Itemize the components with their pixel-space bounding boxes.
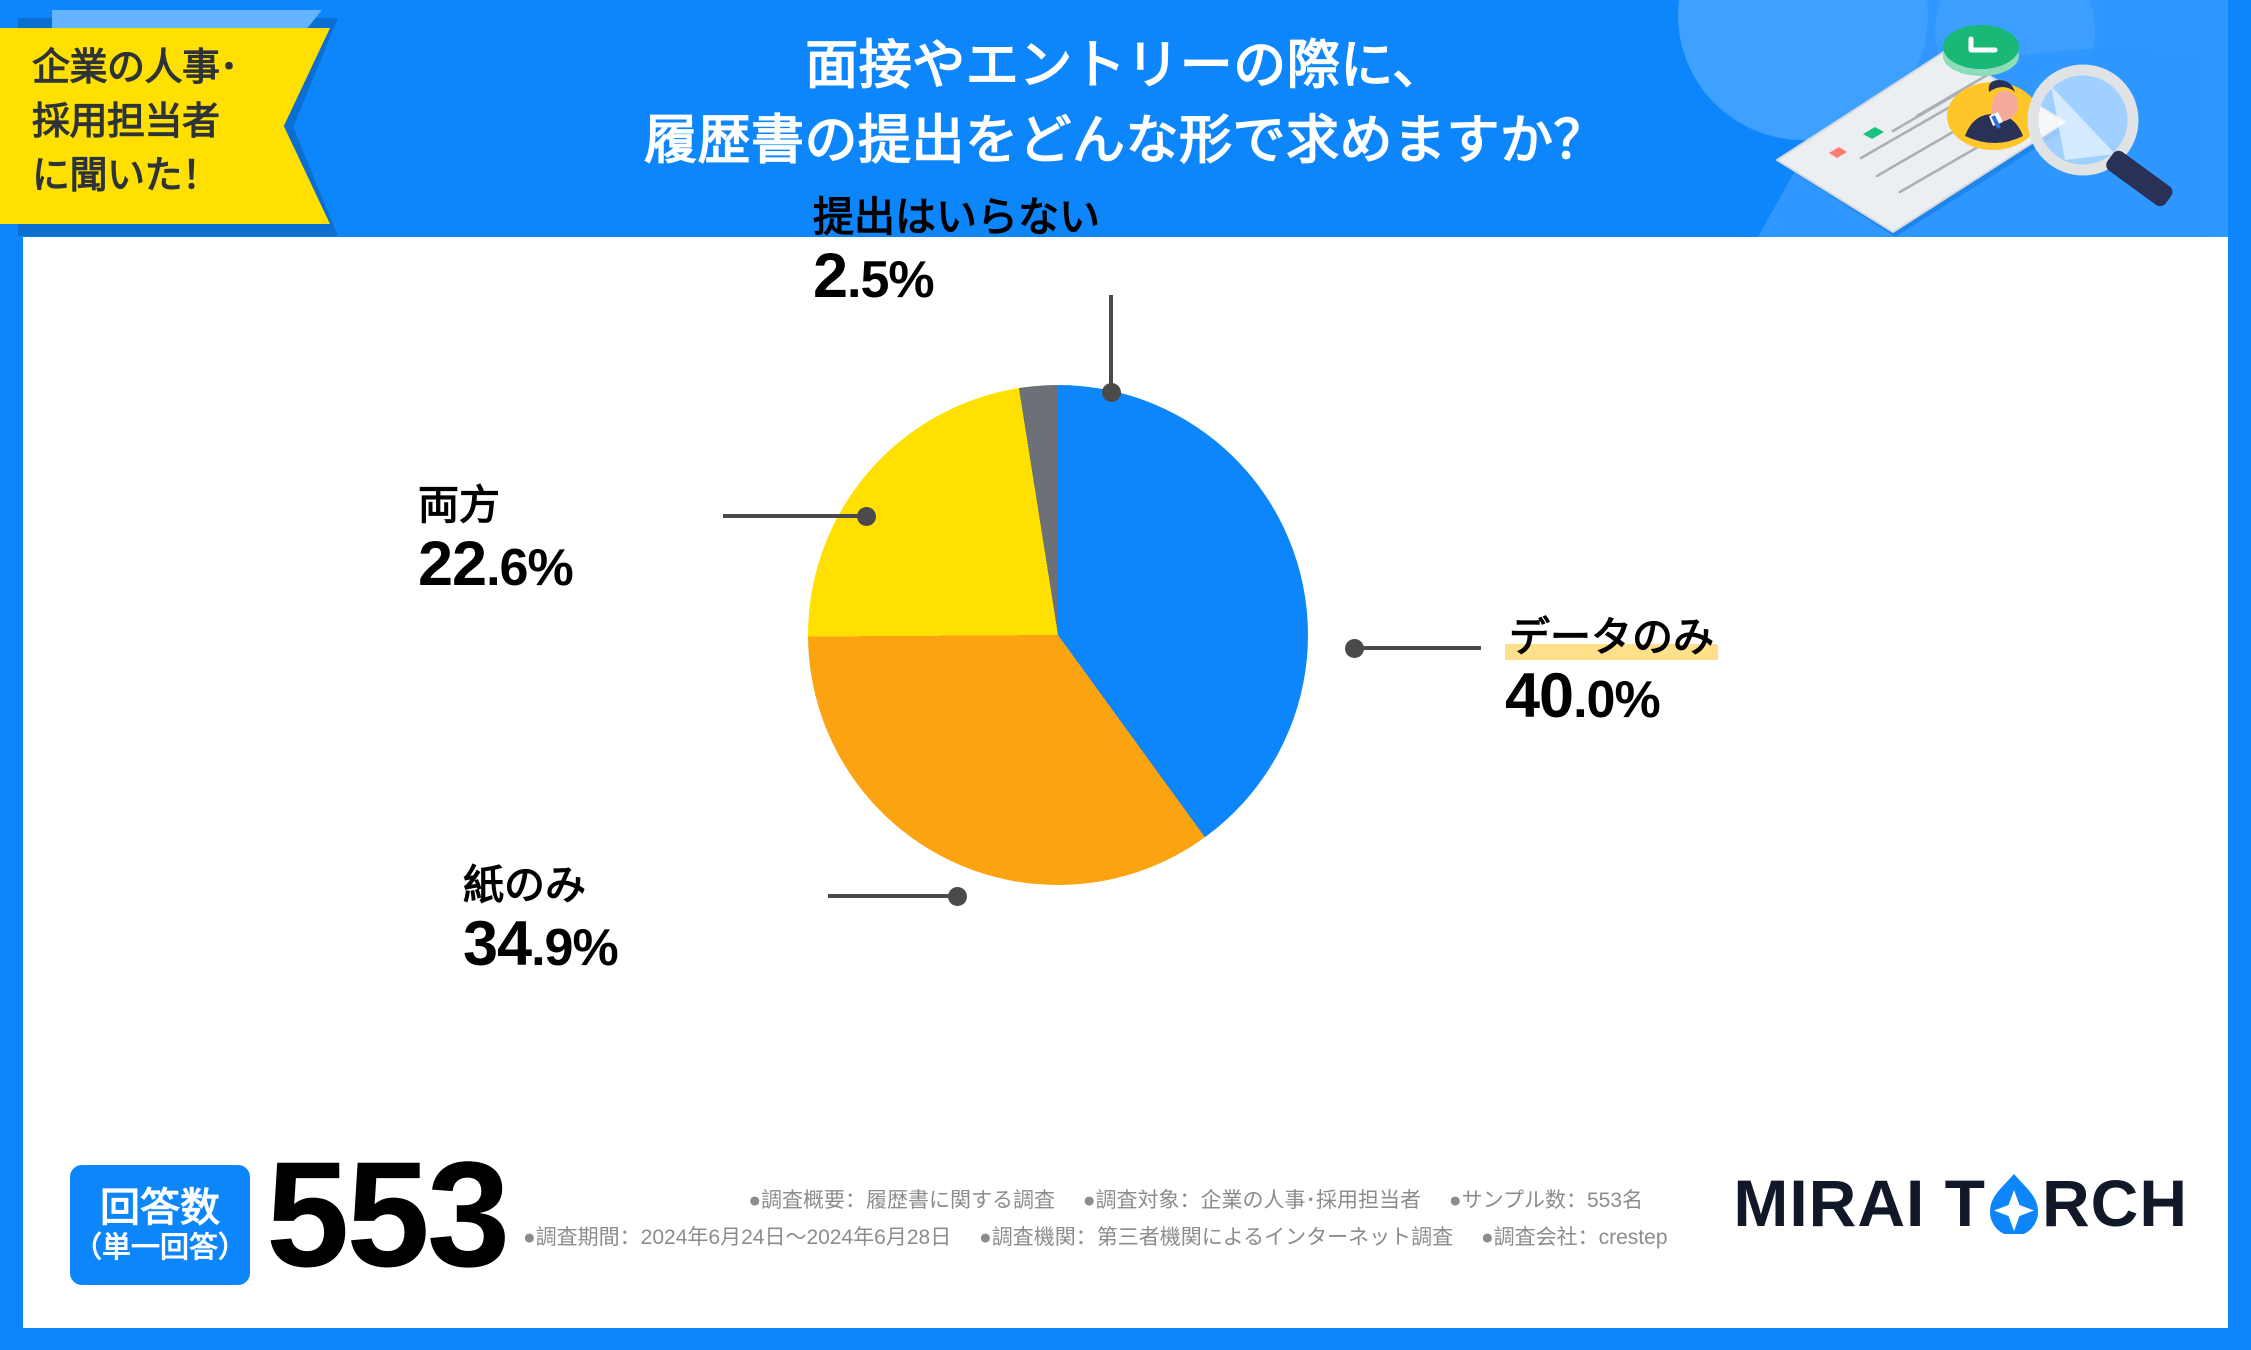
callout-label-2: 両方 <box>418 483 500 528</box>
meta-sample-size: ●サンプル数：553名 <box>1449 1189 1643 1212</box>
meta-survey-period: ●調査期間：2024年6月24日〜2024年6月28日 <box>523 1226 951 1249</box>
callout-value-0: 40.0% <box>1505 660 1718 732</box>
response-count-badge-line1: 回答数 <box>100 1187 220 1229</box>
pie-chart-area: 提出はいらない 2.5% 両方 22.6% 紙のみ 34.9% データのみ <box>23 237 2228 1137</box>
callout-データのみ: データのみ 40.0% <box>1505 615 1718 733</box>
response-count-value: 553 <box>266 1139 507 1289</box>
response-count-badge: 回答数 （単一回答） <box>70 1165 250 1285</box>
callout-line-2 <box>723 514 863 518</box>
response-count-badge-line2: （単一回答） <box>73 1233 247 1263</box>
survey-metadata-row-1: ●調査概要：履歴書に関する調査 ●調査対象：企業の人事･採用担当者 ●サンプル数… <box>523 1183 1643 1220</box>
survey-metadata: ●調査概要：履歴書に関する調査 ●調査対象：企業の人事･採用担当者 ●サンプル数… <box>523 1183 1643 1257</box>
survey-audience-badge: 企業の人事･ 採用担当者 に聞いた！ <box>0 28 330 224</box>
pie-chart <box>808 385 1308 885</box>
callout-提出はいらない: 提出はいらない 2.5% <box>813 195 1100 313</box>
frame-bottom-bar <box>0 1328 2251 1350</box>
header-band: 面接やエントリーの際に、 履歴書の提出をどんな形で求めますか？ <box>23 0 2228 237</box>
logo-text-part1: MIRAI T <box>1733 1165 1986 1241</box>
resume-review-illustration <box>1765 0 2205 237</box>
survey-metadata-row-2: ●調査期間：2024年6月24日〜2024年6月28日 ●調査機関：第三者機関に… <box>523 1220 1643 1257</box>
callout-line-0 <box>1353 646 1481 650</box>
frame-right-bar <box>2228 0 2251 1350</box>
meta-survey-target: ●調査対象：企業の人事･採用担当者 <box>1083 1189 1421 1212</box>
meta-survey-company: ●調査会社：crestep <box>1481 1226 1668 1249</box>
callout-value-3: 2.5% <box>813 240 1100 312</box>
infographic-root: 面接やエントリーの際に、 履歴書の提出をどんな形で求めますか？ <box>0 0 2251 1350</box>
callout-label-1: 紙のみ <box>463 863 586 908</box>
meta-survey-institute: ●調査機関：第三者機関によるインターネット調査 <box>979 1226 1453 1249</box>
mirai-torch-logo: MIRAI T RCH <box>1733 1165 2188 1241</box>
callout-value-2: 22.6% <box>418 528 573 600</box>
callout-label-0: データのみ <box>1505 615 1718 660</box>
logo-text-part2: RCH <box>2042 1165 2188 1241</box>
pie-disc <box>808 385 1308 885</box>
callout-label-3: 提出はいらない <box>813 195 1100 240</box>
footer: 回答数 （単一回答） 553 ●調査概要：履歴書に関する調査 ●調査対象：企業の… <box>23 1137 2228 1328</box>
callout-紙のみ: 紙のみ 34.9% <box>463 863 618 981</box>
torch-flame-icon <box>1988 1172 2040 1234</box>
callout-line-3 <box>1109 295 1113 390</box>
callout-両方: 両方 22.6% <box>418 483 573 601</box>
meta-survey-overview: ●調査概要：履歴書に関する調査 <box>748 1189 1055 1212</box>
callout-line-1 <box>828 894 956 898</box>
callout-value-1: 34.9% <box>463 908 618 980</box>
